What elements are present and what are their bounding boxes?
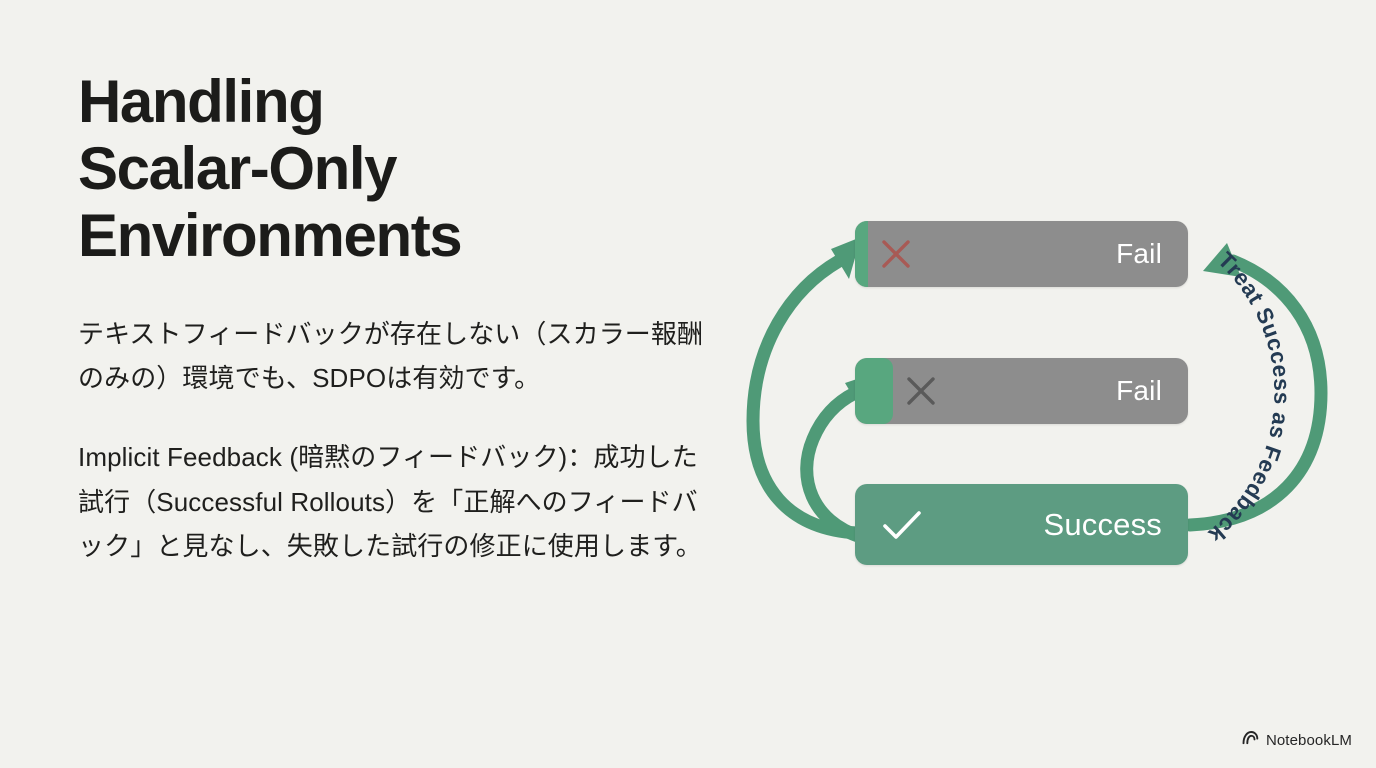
card-accent-block bbox=[855, 358, 893, 424]
cross-icon bbox=[868, 237, 924, 271]
paragraph-implicit-feedback: Implicit Feedback (暗黙のフィードバック)：成功した試行（Su… bbox=[78, 435, 718, 569]
notebooklm-icon bbox=[1242, 730, 1259, 750]
slide: Handling Scalar-Only Environments テキストフィ… bbox=[0, 0, 1376, 768]
feedback-loop-diagram: Treat Success as Feedback Fail bbox=[735, 185, 1355, 605]
paragraph-scalar-reward: テキストフィードバックが存在しない（スカラー報酬のみの）環境でも、SDPOは有効… bbox=[78, 312, 718, 401]
page-title: Handling Scalar-Only Environments bbox=[78, 68, 718, 270]
notebooklm-watermark: NotebookLM bbox=[1242, 730, 1352, 750]
card-fail-top[interactable]: Fail bbox=[855, 221, 1188, 287]
card-label: Fail bbox=[949, 375, 1188, 407]
card-label: Fail bbox=[924, 238, 1188, 270]
content-column: Handling Scalar-Only Environments テキストフィ… bbox=[78, 68, 718, 569]
card-fail-middle[interactable]: Fail bbox=[855, 358, 1188, 424]
cross-icon bbox=[893, 374, 949, 408]
check-icon bbox=[855, 508, 949, 542]
card-accent-stripe bbox=[855, 221, 868, 287]
card-label: Success bbox=[949, 507, 1188, 543]
body-text: テキストフィードバックが存在しない（スカラー報酬のみの）環境でも、SDPOは有効… bbox=[78, 312, 718, 570]
card-success[interactable]: Success bbox=[855, 484, 1188, 565]
watermark-label: NotebookLM bbox=[1266, 732, 1352, 749]
